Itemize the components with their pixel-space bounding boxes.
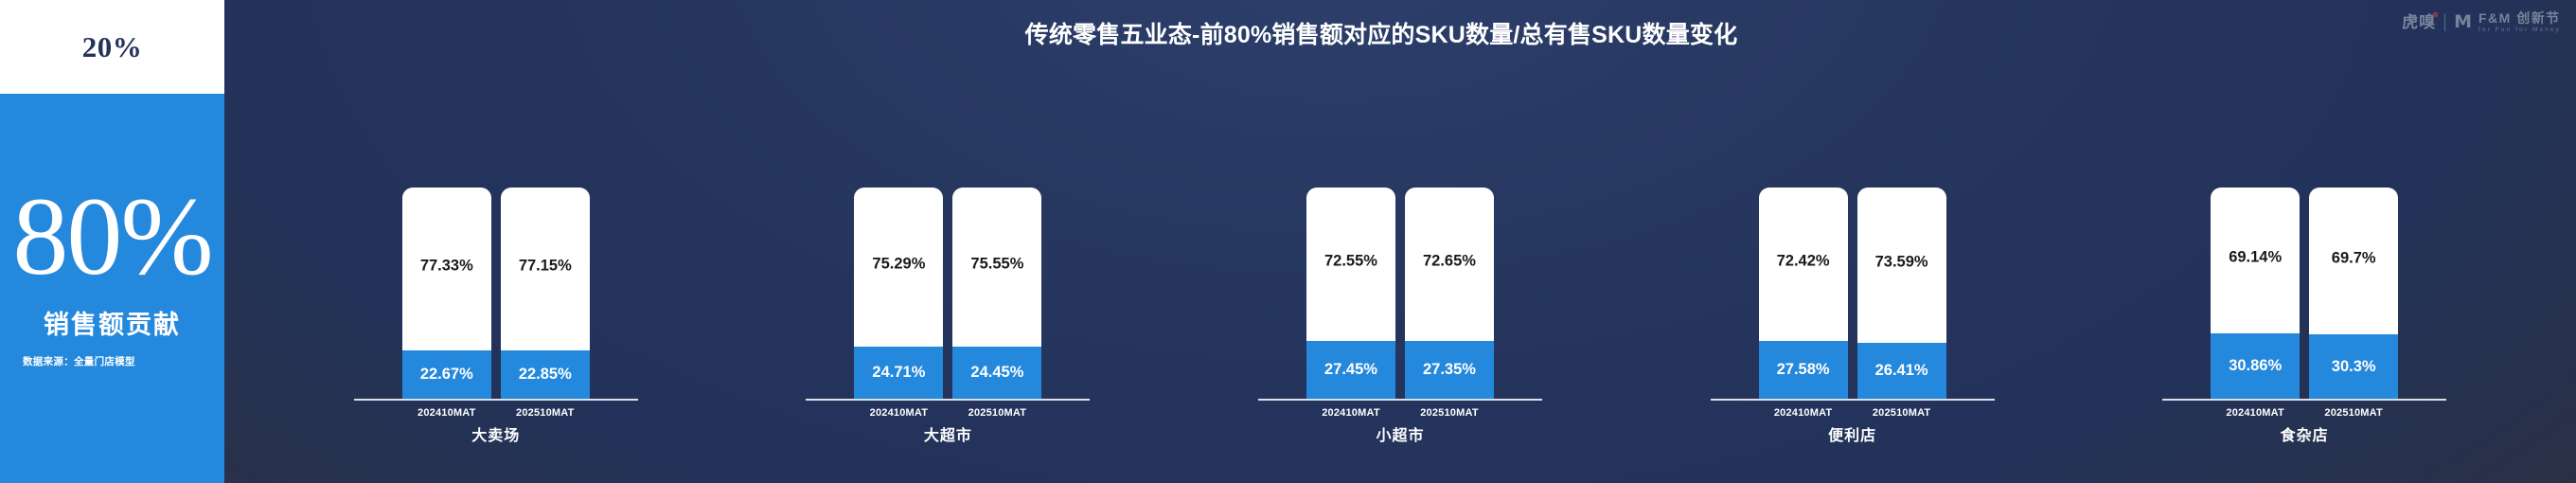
stacked-bar[interactable]: 75.29%24.71% xyxy=(854,188,943,399)
fm-festival-name: F&M 创新节 xyxy=(2478,11,2561,25)
fm-monogram-icon: M xyxy=(2454,13,2470,31)
bar-segment-top80: 24.45% xyxy=(952,347,1041,399)
stacked-bar[interactable]: 73.59%26.41% xyxy=(1857,188,1946,399)
bar-segment-top80: 24.71% xyxy=(854,347,943,399)
bar-column[interactable]: 77.33%22.67% xyxy=(402,188,491,399)
bar-group-inner: 72.55%27.45%72.65%27.35%202410MAT202510M… xyxy=(1258,188,1542,445)
period-tick-labels: 202410MAT202510MAT xyxy=(1711,407,1995,419)
data-source-note: 数据来源：全量门店模型 xyxy=(23,354,135,368)
bar-segment-top80: 22.67% xyxy=(402,350,491,399)
bar-column[interactable]: 75.29%24.71% xyxy=(854,188,943,399)
bar-column[interactable]: 75.55%24.45% xyxy=(952,188,1041,399)
bar-value-label-top: 69.7% xyxy=(2332,249,2376,267)
bar-value-label-top: 73.59% xyxy=(1875,253,1928,271)
bar-column[interactable]: 77.15%22.85% xyxy=(501,188,590,399)
bar-value-label-bottom: 26.41% xyxy=(1875,362,1928,380)
bar-group-4: 72.42%27.58%73.59%26.41%202410MAT202510M… xyxy=(1711,188,1995,483)
bar-value-label-bottom: 27.45% xyxy=(1324,361,1377,379)
bar-group-inner: 72.42%27.58%73.59%26.41%202410MAT202510M… xyxy=(1711,188,1995,445)
bar-segment-remaining: 72.65% xyxy=(1405,188,1494,341)
bar-group-2: 75.29%24.71%75.55%24.45%202410MAT202510M… xyxy=(806,188,1090,483)
bar-column[interactable]: 72.55%27.45% xyxy=(1306,188,1395,399)
group-axis-line xyxy=(1258,399,1542,401)
bar-value-label-top: 72.55% xyxy=(1324,252,1377,270)
bar-value-label-top: 75.29% xyxy=(872,255,925,273)
bar-value-label-bottom: 22.67% xyxy=(420,366,473,384)
period-tick-202510MAT: 202510MAT xyxy=(2309,407,2398,419)
bar-value-label-top: 75.55% xyxy=(970,255,1023,273)
bar-value-label-top: 69.14% xyxy=(2229,249,2282,267)
bar-column[interactable]: 69.7%30.3% xyxy=(2309,188,2398,399)
bar-group-1: 77.33%22.67%77.15%22.85%202410MAT202510M… xyxy=(354,188,638,483)
bar-value-label-top: 77.33% xyxy=(420,257,473,275)
bar-value-label-top: 72.42% xyxy=(1777,252,1830,270)
bar-value-label-bottom: 27.35% xyxy=(1423,361,1476,379)
slide-root: 20% 80% 销售额贡献 数据来源：全量门店模型 传统零售五业态-前80%销售… xyxy=(0,0,2576,483)
bar-pair: 69.14%30.86%69.7%30.3% xyxy=(2162,188,2446,399)
bar-column[interactable]: 69.14%30.86% xyxy=(2211,188,2300,399)
stacked-bar[interactable]: 77.15%22.85% xyxy=(501,188,590,399)
bar-value-label-bottom: 27.58% xyxy=(1777,361,1830,379)
group-axis-line xyxy=(806,399,1090,401)
bar-column[interactable]: 73.59%26.41% xyxy=(1857,188,1946,399)
group-axis-line xyxy=(354,399,638,401)
bar-segment-top80: 27.58% xyxy=(1759,341,1848,400)
bar-segment-top80: 22.85% xyxy=(501,350,590,399)
huxiu-logo-text: 虎嗅 xyxy=(2402,14,2436,30)
period-tick-202410MAT: 202410MAT xyxy=(1759,407,1848,419)
period-tick-202510MAT: 202510MAT xyxy=(501,407,590,419)
period-tick-202510MAT: 202510MAT xyxy=(1405,407,1494,419)
bar-segment-remaining: 73.59% xyxy=(1857,188,1946,343)
bar-segment-remaining: 75.29% xyxy=(854,188,943,347)
bar-group-inner: 69.14%30.86%69.7%30.3%202410MAT202510MAT… xyxy=(2162,188,2446,445)
category-label: 小超市 xyxy=(1376,422,1424,445)
bar-value-label-bottom: 24.45% xyxy=(970,364,1023,382)
bar-value-label-top: 77.15% xyxy=(519,257,572,275)
period-tick-202410MAT: 202410MAT xyxy=(1306,407,1395,419)
period-tick-labels: 202410MAT202510MAT xyxy=(806,407,1090,419)
group-axis-line xyxy=(1711,399,1995,401)
bar-segment-remaining: 69.14% xyxy=(2211,188,2300,333)
period-tick-labels: 202410MAT202510MAT xyxy=(2162,407,2446,419)
period-tick-202410MAT: 202410MAT xyxy=(854,407,943,419)
stacked-bar[interactable]: 72.55%27.45% xyxy=(1306,188,1395,399)
bar-group-5: 69.14%30.86%69.7%30.3%202410MAT202510MAT… xyxy=(2162,188,2446,483)
bar-value-label-top: 72.65% xyxy=(1423,252,1476,270)
left-summary-panel: 20% 80% 销售额贡献 数据来源：全量门店模型 xyxy=(0,0,224,483)
bar-segment-remaining: 77.33% xyxy=(402,188,491,350)
bar-segment-top80: 27.35% xyxy=(1405,341,1494,399)
period-tick-202510MAT: 202510MAT xyxy=(1857,407,1946,419)
category-label: 大超市 xyxy=(924,422,972,445)
bar-value-label-bottom: 24.71% xyxy=(872,364,925,382)
stacked-bar[interactable]: 72.65%27.35% xyxy=(1405,188,1494,399)
bar-pair: 77.33%22.67%77.15%22.85% xyxy=(354,188,638,399)
bar-pair: 75.29%24.71%75.55%24.45% xyxy=(806,188,1090,399)
fm-festival-logo: F&M 创新节 for Fun for Money xyxy=(2478,11,2561,34)
bar-segment-remaining: 72.42% xyxy=(1759,188,1848,341)
bar-value-label-bottom: 30.3% xyxy=(2332,358,2376,376)
logo-red-dot xyxy=(2433,12,2438,17)
stacked-bar[interactable]: 69.14%30.86% xyxy=(2211,188,2300,399)
stacked-bar-chart: 77.33%22.67%77.15%22.85%202410MAT202510M… xyxy=(224,66,2576,483)
period-tick-labels: 202410MAT202510MAT xyxy=(354,407,638,419)
bar-segment-remaining: 69.7% xyxy=(2309,188,2398,334)
bar-value-label-bottom: 30.86% xyxy=(2229,357,2282,375)
fm-festival-tagline: for Fun for Money xyxy=(2478,27,2561,34)
stacked-bar[interactable]: 69.7%30.3% xyxy=(2309,188,2398,399)
stacked-bar[interactable]: 72.42%27.58% xyxy=(1759,188,1848,399)
bar-segment-remaining: 75.55% xyxy=(952,188,1041,347)
left-panel-top-block: 20% xyxy=(0,0,224,94)
stacked-bar[interactable]: 77.33%22.67% xyxy=(402,188,491,399)
category-label: 便利店 xyxy=(1828,422,1876,445)
bar-segment-top80: 30.3% xyxy=(2309,334,2398,399)
twenty-percent-label: 20% xyxy=(82,30,143,64)
bar-group-3: 72.55%27.45%72.65%27.35%202410MAT202510M… xyxy=(1258,188,1542,483)
logo-divider xyxy=(2444,13,2445,31)
period-tick-202510MAT: 202510MAT xyxy=(952,407,1041,419)
bar-column[interactable]: 72.42%27.58% xyxy=(1759,188,1848,399)
bar-value-label-bottom: 22.85% xyxy=(519,366,572,384)
period-tick-202410MAT: 202410MAT xyxy=(402,407,491,419)
period-tick-labels: 202410MAT202510MAT xyxy=(1258,407,1542,419)
sales-contribution-label: 销售额贡献 xyxy=(0,304,224,341)
page-title: 传统零售五业态-前80%销售额对应的SKU数量/总有售SKU数量变化 xyxy=(1025,16,1738,50)
eighty-percent-value: 80% xyxy=(0,181,224,293)
bar-group-inner: 75.29%24.71%75.55%24.45%202410MAT202510M… xyxy=(806,188,1090,445)
bar-group-inner: 77.33%22.67%77.15%22.85%202410MAT202510M… xyxy=(354,188,638,445)
period-tick-202410MAT: 202410MAT xyxy=(2211,407,2300,419)
bar-segment-top80: 26.41% xyxy=(1857,343,1946,399)
brand-logo: 虎嗅 M F&M 创新节 for Fun for Money xyxy=(2402,11,2561,34)
bar-segment-remaining: 72.55% xyxy=(1306,188,1395,341)
bar-pair: 72.55%27.45%72.65%27.35% xyxy=(1258,188,1542,399)
category-label: 大卖场 xyxy=(471,422,520,445)
bar-segment-top80: 30.86% xyxy=(2211,333,2300,399)
stacked-bar[interactable]: 75.55%24.45% xyxy=(952,188,1041,399)
bar-segment-remaining: 77.15% xyxy=(501,188,590,350)
chart-title-bar: 传统零售五业态-前80%销售额对应的SKU数量/总有售SKU数量变化 xyxy=(224,0,2576,66)
bar-segment-top80: 27.45% xyxy=(1306,341,1395,399)
group-axis-line xyxy=(2162,399,2446,401)
bar-pair: 72.42%27.58%73.59%26.41% xyxy=(1711,188,1995,399)
category-label: 食杂店 xyxy=(2281,422,2329,445)
bar-column[interactable]: 72.65%27.35% xyxy=(1405,188,1494,399)
left-panel-bottom-block: 80% 销售额贡献 数据来源：全量门店模型 xyxy=(0,94,224,483)
